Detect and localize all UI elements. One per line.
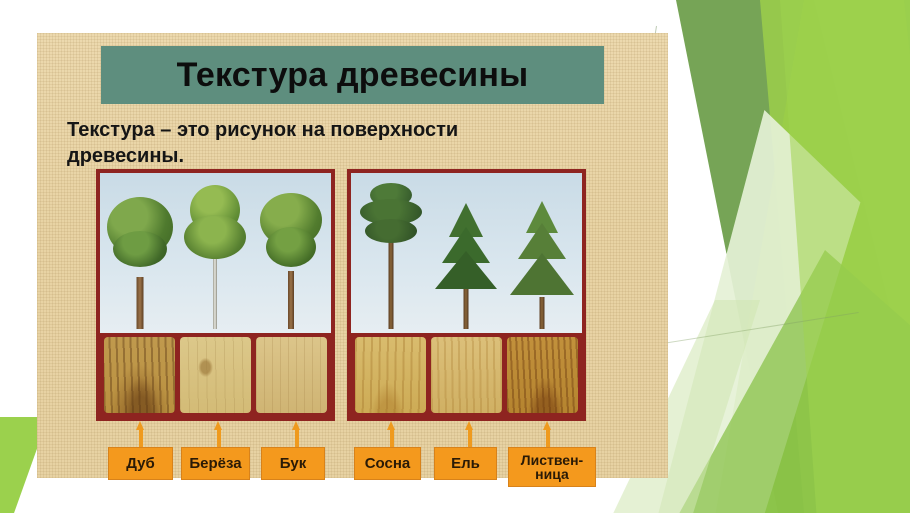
label-arrows (96, 421, 611, 449)
coniferous-tree-row (351, 173, 582, 337)
label-birch[interactable]: Берёза (181, 447, 250, 480)
deciduous-wood-row (100, 333, 331, 417)
arrow-larch (543, 421, 552, 447)
arrow-beech (292, 421, 301, 447)
beech-crown-lower (266, 227, 316, 267)
deco-shape-overlay-green (780, 0, 910, 513)
label-oak[interactable]: Дуб (108, 447, 173, 480)
oak-wood-sample (104, 337, 175, 413)
birch-crown-mid (184, 215, 246, 259)
deco-shape-bright-green (700, 0, 910, 513)
slide-canvas: Текстура древесины Текстура – это рисуно… (0, 0, 910, 513)
page-title: Текстура древесины (177, 56, 529, 95)
deciduous-panel (96, 169, 335, 421)
birch-wood-sample (180, 337, 251, 413)
arrow-birch (214, 421, 223, 447)
larch-trunk (540, 297, 545, 329)
beech-trunk (288, 271, 294, 329)
arrow-oak (136, 421, 145, 447)
arrow-spruce (465, 421, 474, 447)
label-pine[interactable]: Сосна (354, 447, 421, 480)
pine-crown-lower (365, 219, 417, 243)
pine-trunk (388, 233, 393, 329)
pine-wood-sample (355, 337, 426, 413)
larch-wood-sample (507, 337, 578, 413)
larch-tier-lower (510, 253, 574, 295)
oak-crown-lower (113, 231, 167, 267)
slide-subtitle: Текстура – это рисунок на поверхности др… (67, 118, 537, 169)
deciduous-tree-row (100, 173, 331, 337)
wood-texture-figure: Дуб Берёза Бук Сосна Ель Листвен- ница (96, 169, 611, 474)
deco-shape-pale-green (654, 110, 894, 513)
beech-wood-sample (256, 337, 327, 413)
label-beech[interactable]: Бук (261, 447, 325, 480)
deco-shape-light-green (760, 0, 910, 513)
species-labels: Дуб Берёза Бук Сосна Ель Листвен- ница (96, 447, 611, 487)
beech-tree (256, 179, 326, 329)
oak-tree (105, 179, 175, 329)
spruce-wood-sample (431, 337, 502, 413)
oak-trunk (136, 277, 143, 329)
spruce-trunk (464, 287, 469, 329)
pine-tree (356, 179, 426, 329)
larch-tree (507, 179, 577, 329)
deco-shape-dark-green (640, 0, 910, 513)
spruce-tier-lower (435, 251, 497, 289)
label-spruce[interactable]: Ель (434, 447, 497, 480)
label-larch[interactable]: Листвен- ница (508, 447, 596, 487)
spruce-tree (431, 179, 501, 329)
coniferous-wood-row (351, 333, 582, 417)
deco-shape-mid-green (670, 250, 910, 513)
birch-tree (180, 179, 250, 329)
arrow-pine (387, 421, 396, 447)
birch-trunk (213, 255, 217, 329)
slide-title-plaque: Текстура древесины (101, 46, 604, 104)
slide-board: Текстура древесины Текстура – это рисуно… (37, 33, 668, 478)
coniferous-panel (347, 169, 586, 421)
